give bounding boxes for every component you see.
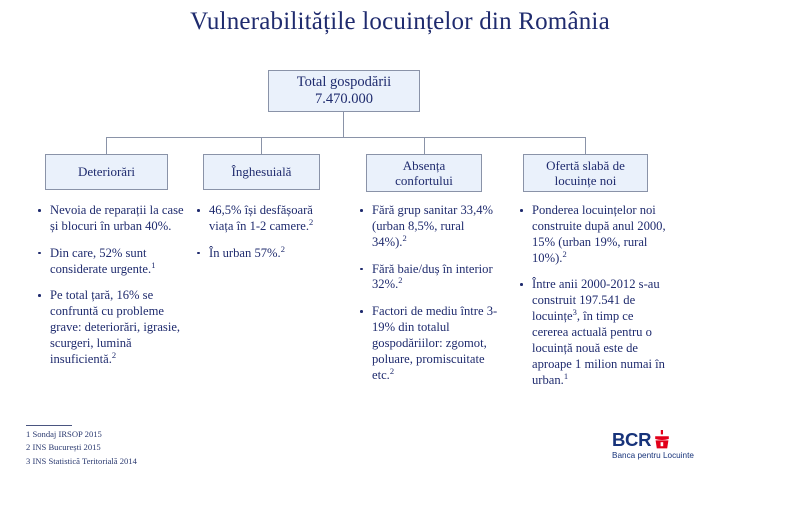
bullet-text: Din care, 52% sunt considerate urgente. <box>50 246 151 276</box>
bullet-column-absenta-confortului: Fără grup sanitar 33,4% (urban 8,5%, rur… <box>358 203 498 395</box>
list-item: În urban 57%.2 <box>195 246 335 262</box>
branch-node-label-line-1: Absența <box>403 158 446 173</box>
list-item: Între anii 2000-2012 s-au construit 197.… <box>518 277 666 388</box>
bullet-text: 46,5% își desfășoară viața în 1-2 camere… <box>209 203 313 233</box>
branch-node-absenta-confortului: Absența confortului <box>366 154 482 192</box>
bullet-text: Nevoia de reparații la case și blocuri î… <box>50 203 184 233</box>
footnote-divider <box>26 425 72 426</box>
footnote-line: 1 Sondaj IRSOP 2015 <box>26 428 137 441</box>
connector-horizontal-bus <box>106 137 586 138</box>
root-node-total-households: Total gospodării 7.470.000 <box>268 70 420 112</box>
branch-node-deteriorari: Deteriorări <box>45 154 168 190</box>
footnote-marker: 2 <box>112 350 116 360</box>
root-node-value: 7.470.000 <box>315 91 373 108</box>
page-title: Vulnerabilitățile locuințelor din Români… <box>0 8 800 36</box>
list-item: Fără baie/duș în interior 32%.2 <box>358 262 498 294</box>
list-item: Ponderea locuințelor noi construite după… <box>518 203 666 266</box>
branch-node-label-line-2: locuințe noi <box>555 173 617 188</box>
list-item: 46,5% își desfășoară viața în 1-2 camere… <box>195 203 335 235</box>
list-item: Din care, 52% sunt considerate urgente.1 <box>36 246 184 278</box>
connector-drop-branch-3 <box>424 137 425 154</box>
footnote-block: 1 Sondaj IRSOP 2015 2 INS București 2015… <box>26 428 137 468</box>
branch-node-label-line-1: Ofertă slabă de <box>546 158 625 173</box>
footnote-marker: 2 <box>562 248 566 258</box>
list-item: Pe total țară, 16% se confruntă cu probl… <box>36 288 184 367</box>
bullet-column-inghesuiala: 46,5% își desfășoară viața în 1-2 camere… <box>195 203 335 273</box>
footnote-marker: 2 <box>390 366 394 376</box>
connector-drop-branch-4 <box>585 137 586 154</box>
bullet-text: Fără baie/duș în interior 32%. <box>372 262 493 292</box>
list-item: Fără grup sanitar 33,4% (urban 8,5%, rur… <box>358 203 498 251</box>
list-item: Nevoia de reparații la case și blocuri î… <box>36 203 184 235</box>
connector-drop-branch-2 <box>261 137 262 154</box>
branch-node-inghesuiala: Înghesuială <box>203 154 320 190</box>
bullet-column-deteriorari: Nevoia de reparații la case și blocuri î… <box>36 203 184 379</box>
bullet-text: Fără grup sanitar 33,4% (urban 8,5%, rur… <box>372 203 493 249</box>
footnote-marker: 1 <box>151 259 155 269</box>
footnote-marker: 1 <box>564 370 568 380</box>
footnote-line: 2 INS București 2015 <box>26 441 137 454</box>
connector-root-stem <box>343 112 344 137</box>
connector-drop-branch-1 <box>106 137 107 154</box>
logo-row: BCR <box>612 431 732 450</box>
bullet-column-oferta-slaba: Ponderea locuințelor noi construite după… <box>518 203 666 399</box>
footnote-marker: 2 <box>402 233 406 243</box>
branch-node-label-line-1: Înghesuială <box>232 164 292 179</box>
list-item: Factori de mediu între 3-19% din totalul… <box>358 304 498 383</box>
logo-wordmark: BCR <box>612 431 651 449</box>
branch-node-label-line-2: confortului <box>395 173 453 188</box>
footnote-marker: 2 <box>281 244 285 254</box>
branch-node-oferta-slaba: Ofertă slabă de locuințe noi <box>523 154 648 192</box>
logo-tagline: Banca pentru Locuinte <box>612 451 732 460</box>
bullet-text: Ponderea locuințelor noi construite după… <box>532 203 666 265</box>
footnote-marker: 2 <box>398 275 402 285</box>
footnote-marker: 2 <box>309 217 313 227</box>
footnote-line: 3 INS Statistică Teritorială 2014 <box>26 455 137 468</box>
root-node-label: Total gospodării <box>297 74 391 91</box>
bullet-text: În urban 57%. <box>209 246 281 260</box>
branch-node-label-line-1: Deteriorări <box>78 164 135 179</box>
bcr-logo: BCR Banca pentru Locuinte <box>612 431 732 465</box>
